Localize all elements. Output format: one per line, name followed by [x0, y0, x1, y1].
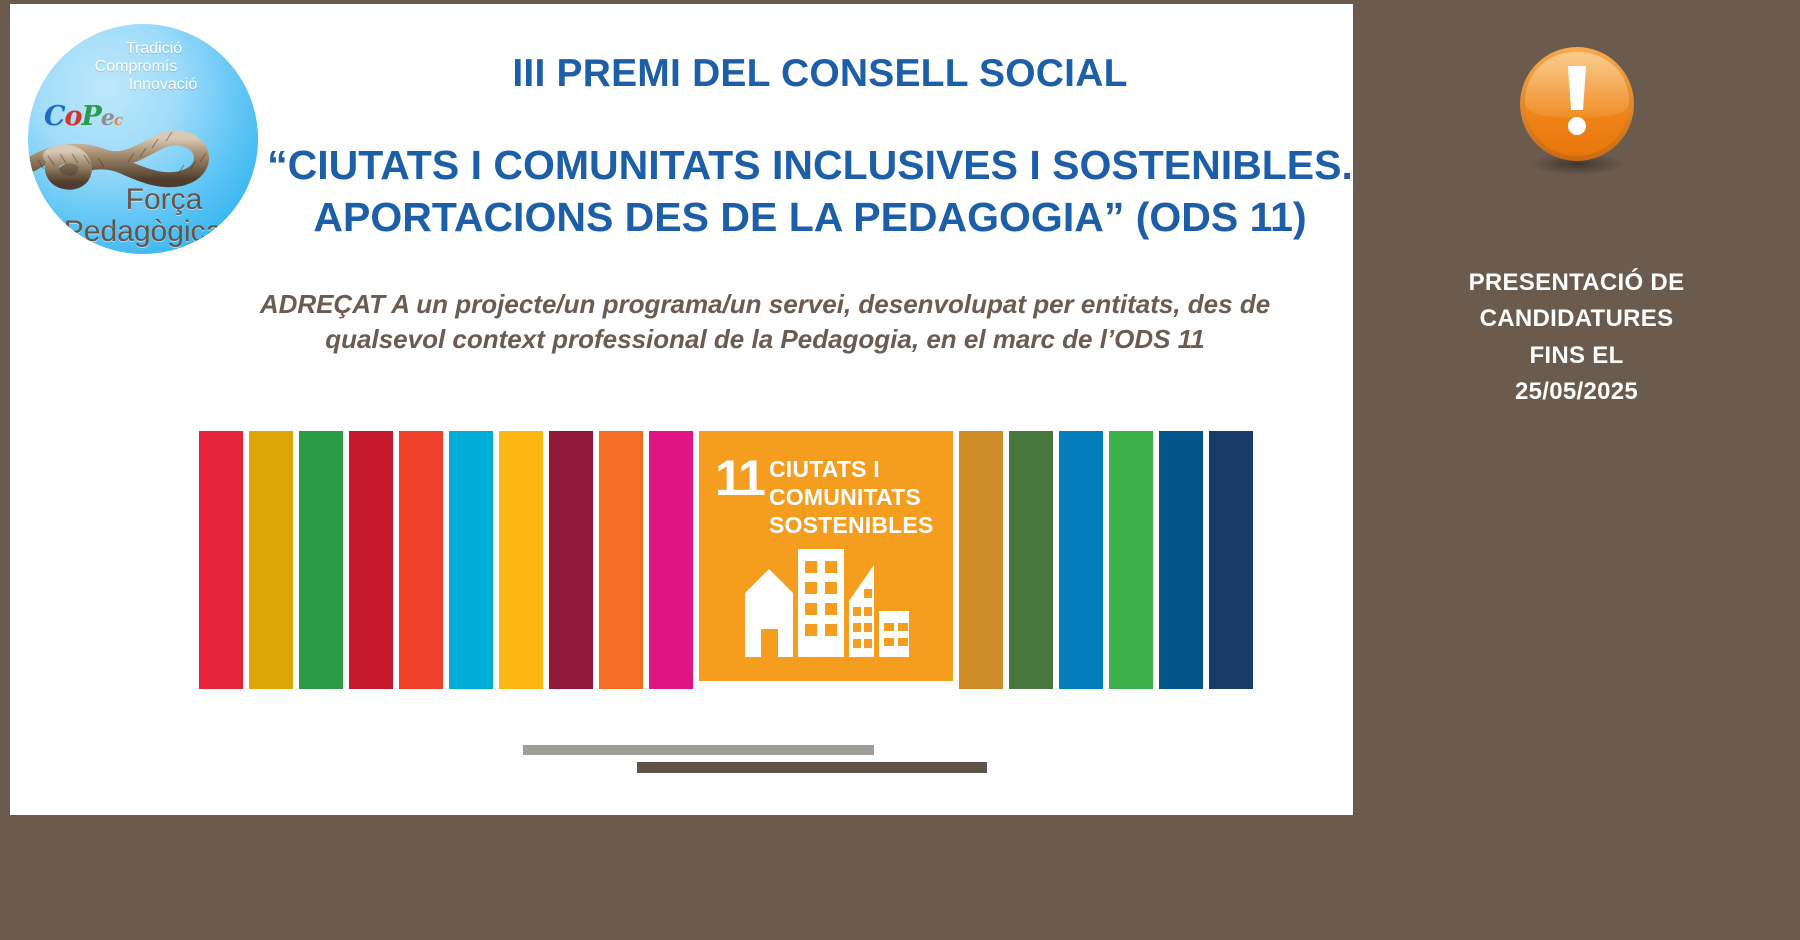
slide-panel: Tradició Compromís Innovació CoPec: [10, 4, 1353, 815]
addressed-line1: ADREÇAT A un projecte/un programa/un ser…: [180, 287, 1350, 322]
sdg-bar-15: [1109, 431, 1153, 689]
addressed-to-text: ADREÇAT A un projecte/un programa/un ser…: [180, 287, 1350, 357]
page-subtitle-line2: APORTACIONS DES DE LA PEDAGOGIA” (ODS 11…: [260, 191, 1360, 243]
sdg-tile-label-line3: SOSTENIBLES: [769, 511, 934, 539]
sdg-bar-5: [399, 431, 443, 689]
sdg-bar-14: [1059, 431, 1103, 689]
sdg-tile-11: 11CIUTATS ICOMUNITATSSOSTENIBLES: [699, 431, 953, 681]
sdg-tile-number: 11: [715, 453, 764, 503]
sdg-bar-6: [449, 431, 493, 689]
sdg-bar-7: [499, 431, 543, 689]
sdg-bar-4: [349, 431, 393, 689]
sdg-bar-17: [1209, 431, 1253, 689]
sdg-bar-2: [249, 431, 293, 689]
sdg-color-strip: 11CIUTATS ICOMUNITATSSOSTENIBLES: [199, 431, 1284, 689]
slide-canvas: Tradició Compromís Innovació CoPec: [0, 0, 1800, 940]
logo-force-line2: Pedagògica: [28, 216, 258, 248]
deadline-text: PRESENTACIÓ DE CANDIDATURES FINS EL 25/0…: [1353, 265, 1800, 411]
decor-bar-dark: [637, 762, 987, 773]
sdg-tile-label-line1: CIUTATS I: [769, 455, 934, 483]
page-subtitle-line1: “CIUTATS I COMUNITATS INCLUSIVES I SOSTE…: [260, 139, 1360, 191]
deadline-date: 25/05/2025: [1353, 374, 1800, 410]
sdg-tile-label-line2: COMUNITATS: [769, 483, 934, 511]
logo-force-line1: Força: [28, 184, 258, 216]
deadline-line2: CANDIDATURES: [1353, 301, 1800, 337]
decor-bar-light: [523, 745, 874, 755]
deadline-line1: PRESENTACIÓ DE: [1353, 265, 1800, 301]
logo-force-text: Força Pedagògica: [28, 184, 258, 249]
sdg-bar-13: [1009, 431, 1053, 689]
deadline-sidebar: PRESENTACIÓ DE CANDIDATURES FINS EL 25/0…: [1353, 0, 1800, 940]
sdg-bar-16: [1159, 431, 1203, 689]
logo-claim-line3: Innovació: [28, 76, 258, 94]
deadline-line3: FINS EL: [1353, 338, 1800, 374]
copec-logo: Tradició Compromís Innovació CoPec: [28, 24, 258, 254]
city-buildings-icon: [743, 549, 909, 661]
sdg-bar-3: [299, 431, 343, 689]
sdg-bar-1: [199, 431, 243, 689]
logo-claim-line2: Compromís: [28, 58, 258, 76]
sdg-bar-8: [549, 431, 593, 689]
page-title: III PREMI DEL CONSELL SOCIAL: [310, 52, 1330, 96]
logo-claim-line1: Tradició: [28, 40, 258, 58]
logo-claims: Tradició Compromís Innovació: [28, 40, 258, 94]
addressed-line2: qualsevol context professional de la Ped…: [180, 322, 1350, 357]
sdg-bar-9: [599, 431, 643, 689]
exclamation-alert-icon: [1510, 44, 1644, 178]
sdg-bar-10: [649, 431, 693, 689]
sdg-bar-12: [959, 431, 1003, 689]
sdg-tile-label: CIUTATS ICOMUNITATSSOSTENIBLES: [769, 455, 934, 539]
page-subtitle: “CIUTATS I COMUNITATS INCLUSIVES I SOSTE…: [260, 139, 1360, 244]
